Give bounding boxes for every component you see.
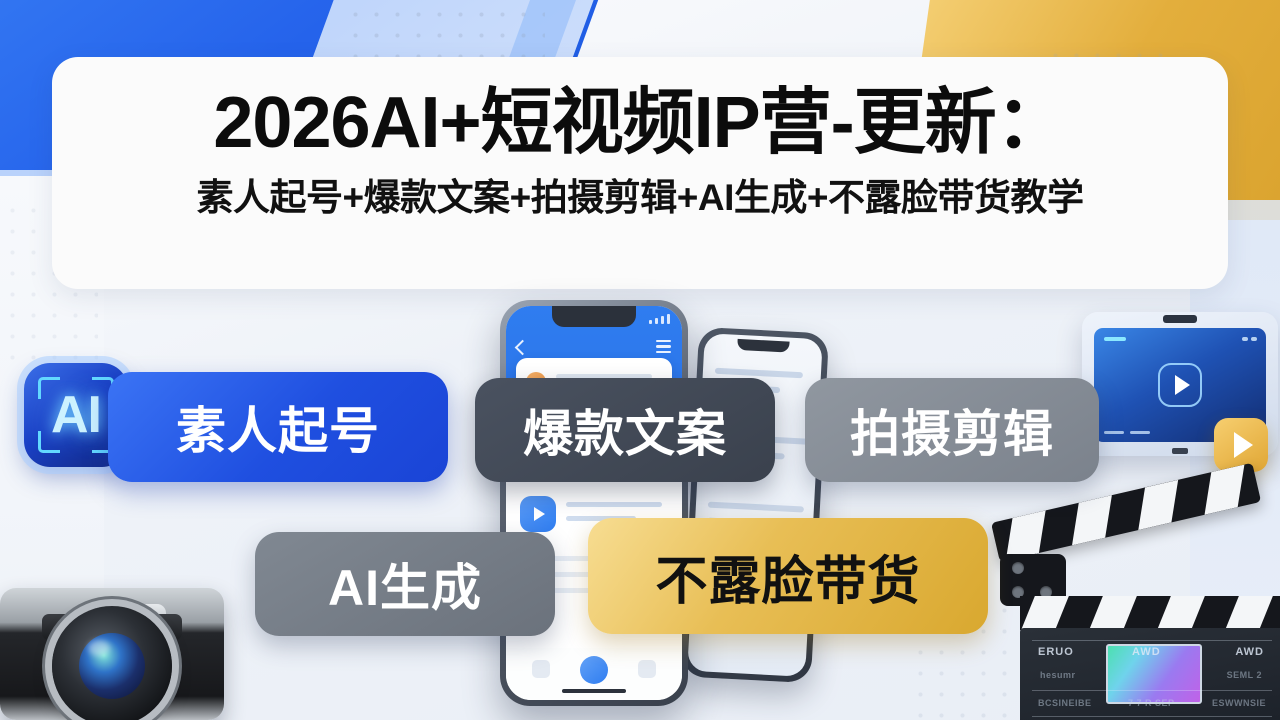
- tag-pill-su-ren-qi-hao[interactable]: 素人起号: [108, 372, 448, 482]
- page-subtitle: 素人起号+爆款文案+拍摄剪辑+AI生成+不露脸带货教学: [52, 179, 1228, 216]
- promo-poster: 2026AI+短视频IP营-更新： 素人起号+爆款文案+拍摄剪辑+AI生成+不露…: [0, 0, 1280, 720]
- clapper-code-center: 7 7 R SEP: [1128, 698, 1175, 708]
- headline-card: 2026AI+短视频IP营-更新： 素人起号+爆款文案+拍摄剪辑+AI生成+不露…: [52, 57, 1228, 289]
- tag-pill-bu-lou-lian-dai-huo[interactable]: 不露脸带货: [588, 518, 988, 634]
- tag-pill-bao-kuan-wen-an[interactable]: 爆款文案: [475, 378, 775, 482]
- nav-profile-icon[interactable]: [638, 660, 656, 678]
- clapper-code-left: BCSINEIBE: [1038, 698, 1092, 708]
- phone-mockup-front: [500, 300, 688, 706]
- tag-pill-ai-sheng-cheng[interactable]: AI生成: [255, 532, 555, 636]
- clapper-sub-left: hesumr: [1040, 670, 1076, 680]
- nav-create-button[interactable]: [580, 656, 608, 684]
- play-badge-icon: [1214, 418, 1268, 472]
- hamburger-menu-icon[interactable]: [656, 340, 671, 356]
- phone-bottom-nav: [506, 648, 682, 700]
- phone-front-screen: [506, 306, 682, 700]
- clapper-code-right: ESWWNSIE: [1212, 698, 1266, 708]
- nav-home-icon[interactable]: [532, 660, 550, 678]
- monitor-play-icon: [1158, 363, 1202, 407]
- clapper-field-left: ERUO: [1038, 646, 1074, 658]
- clapper-sub-right: SEML 2: [1227, 670, 1262, 680]
- play-button-icon[interactable]: [520, 496, 556, 532]
- dot-pattern-top-right: [345, 4, 545, 62]
- tag-pill-pai-she-jian-ji[interactable]: 拍摄剪辑: [805, 378, 1099, 482]
- clapperboard-icon: ERUO AWD AWD hesumr SEML 2 BCSINEIBE 7 7…: [994, 500, 1280, 720]
- phone-notch: [552, 306, 636, 327]
- page-title: 2026AI+短视频IP营-更新：: [52, 87, 1228, 159]
- clapper-field-center: AWD: [1132, 646, 1161, 658]
- clapper-field-right: AWD: [1235, 646, 1264, 658]
- phone-signal-icon: [649, 314, 670, 324]
- phone-back-notch: [737, 339, 790, 353]
- dslr-camera-icon: [0, 548, 238, 720]
- home-indicator: [562, 689, 626, 693]
